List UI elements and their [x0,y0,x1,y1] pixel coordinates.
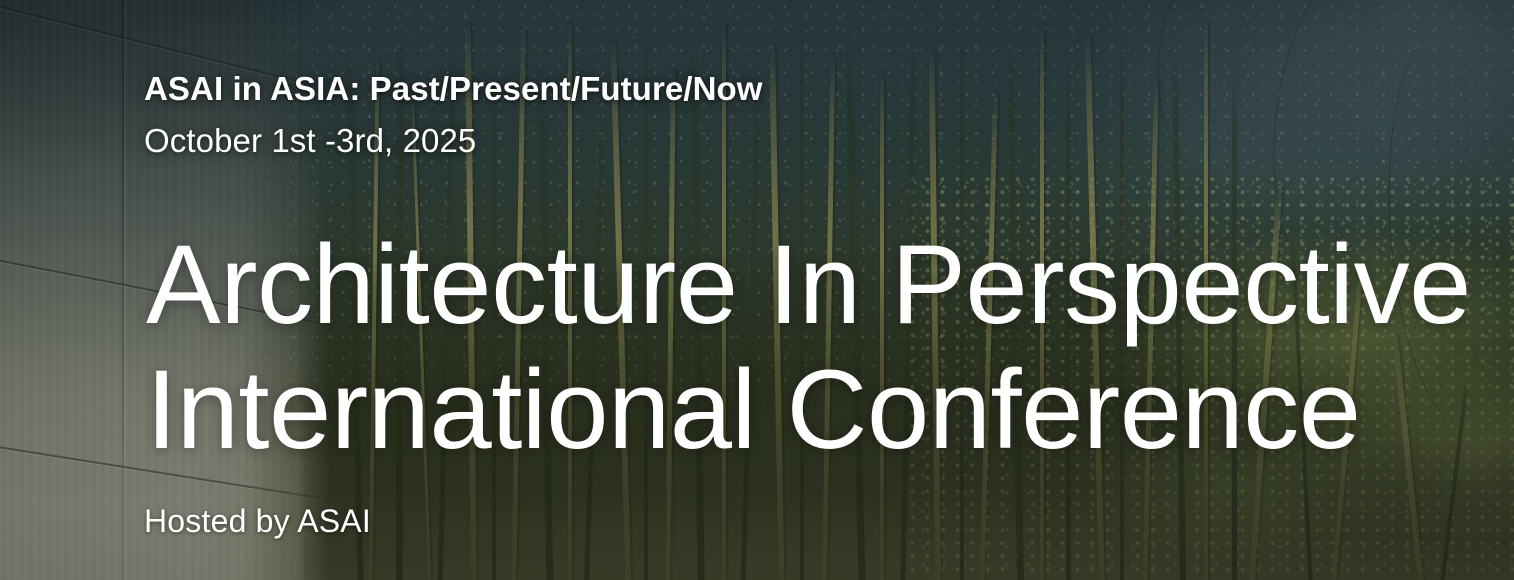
page-title-line-2: International Conference [146,347,1471,472]
page-title-line-1: Architecture In Perspective [146,222,1471,347]
hero-text-block: ASAI in ASIA: Past/Present/Future/Now Oc… [144,0,1424,580]
hosted-by-label: Hosted by ASAI [144,503,371,540]
event-dates: October 1st -3rd, 2025 [144,122,476,160]
conference-hero-banner: ASAI in ASIA: Past/Present/Future/Now Oc… [0,0,1514,580]
wall-seam-vertical [122,0,124,580]
page-title: Architecture In Perspective Internationa… [146,222,1471,473]
event-theme-title: ASAI in ASIA: Past/Present/Future/Now [144,70,763,108]
